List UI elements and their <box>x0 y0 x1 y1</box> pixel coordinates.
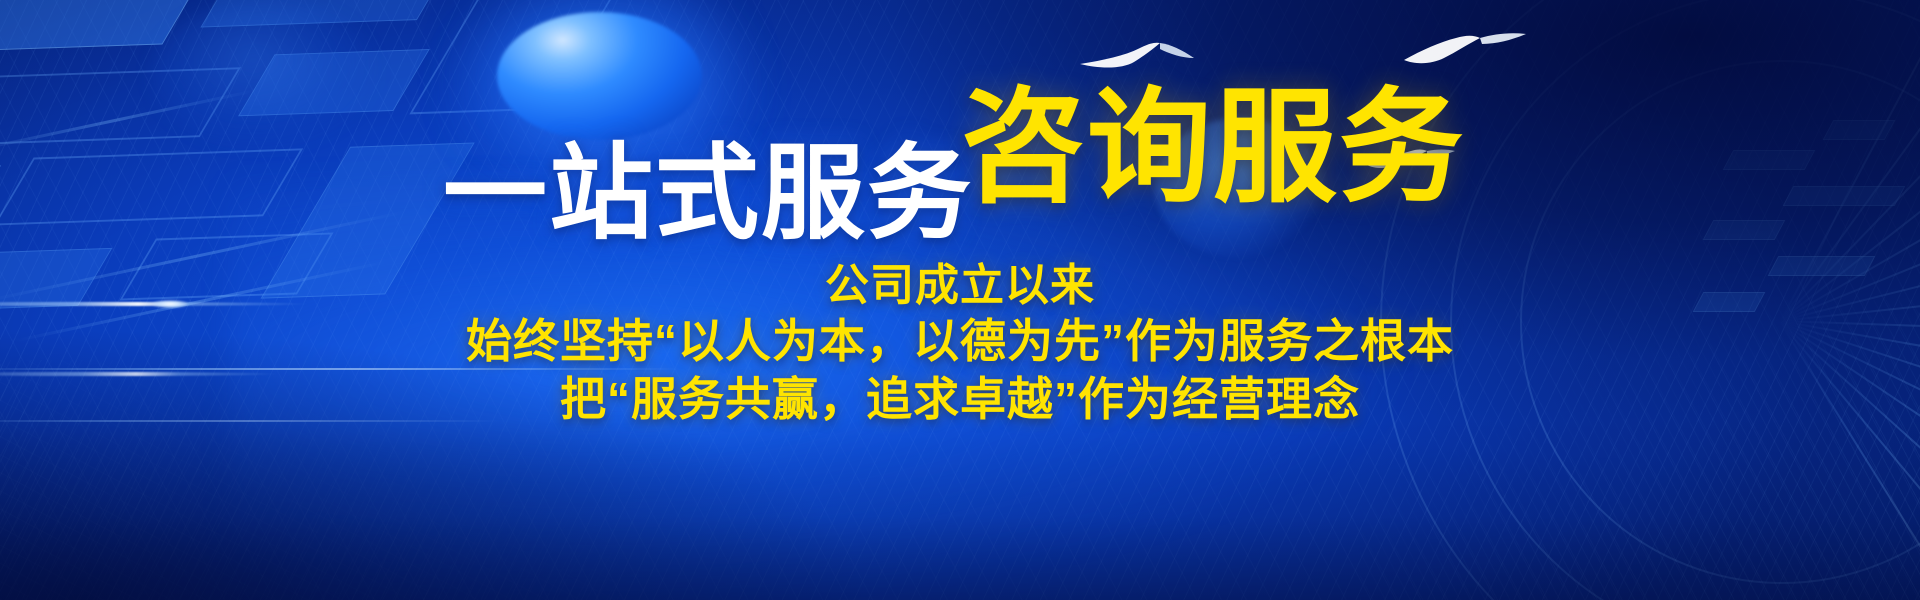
title-primary: 一站式服务 <box>443 142 973 246</box>
banner-title: 一站式服务 咨询服务 <box>0 78 1920 202</box>
body-line-2: 始终坚持“以人为本，以德为先”作为服务之根本 <box>0 313 1920 371</box>
body-line-1: 公司成立以来 <box>0 258 1920 313</box>
banner-body-text: 公司成立以来 始终坚持“以人为本，以德为先”作为服务之根本 把“服务共赢，追求卓… <box>0 258 1920 428</box>
banner-content: 一站式服务 咨询服务 公司成立以来 始终坚持“以人为本，以德为先”作为服务之根本… <box>0 0 1920 600</box>
body-line-3: 把“服务共赢，追求卓越”作为经营理念 <box>0 371 1920 429</box>
title-accent: 咨询服务 <box>961 86 1465 210</box>
promo-banner: 一站式服务 咨询服务 公司成立以来 始终坚持“以人为本，以德为先”作为服务之根本… <box>0 0 1920 600</box>
